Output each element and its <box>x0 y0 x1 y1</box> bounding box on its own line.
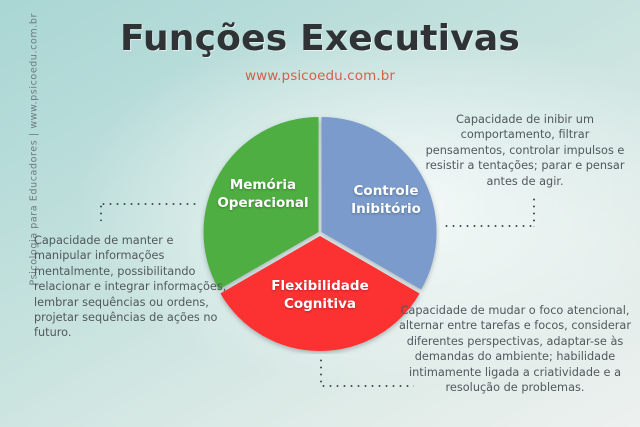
infographic-canvas: Funções Executivas www.psicoedu.com.br P… <box>0 0 640 427</box>
connector-memoria-horizontal <box>100 203 198 205</box>
description-memoria-operacional: Capacidade de manter e manipular informa… <box>34 233 230 341</box>
website-url: www.psicoedu.com.br <box>0 68 640 84</box>
page-title: Funções Executivas <box>0 18 640 59</box>
connector-flexibilidade-vertical <box>320 357 322 387</box>
connector-controle-vertical <box>533 196 535 227</box>
description-controle-inibitorio: Capacidade de inibir um comportamento, f… <box>424 112 626 189</box>
connector-flexibilidade-horizontal <box>320 385 414 387</box>
connector-controle-horizontal <box>443 225 535 227</box>
description-flexibilidade-cognitiva: Capacidade de mudar o foco atencional, a… <box>396 303 634 395</box>
connector-memoria-vertical <box>100 203 102 221</box>
